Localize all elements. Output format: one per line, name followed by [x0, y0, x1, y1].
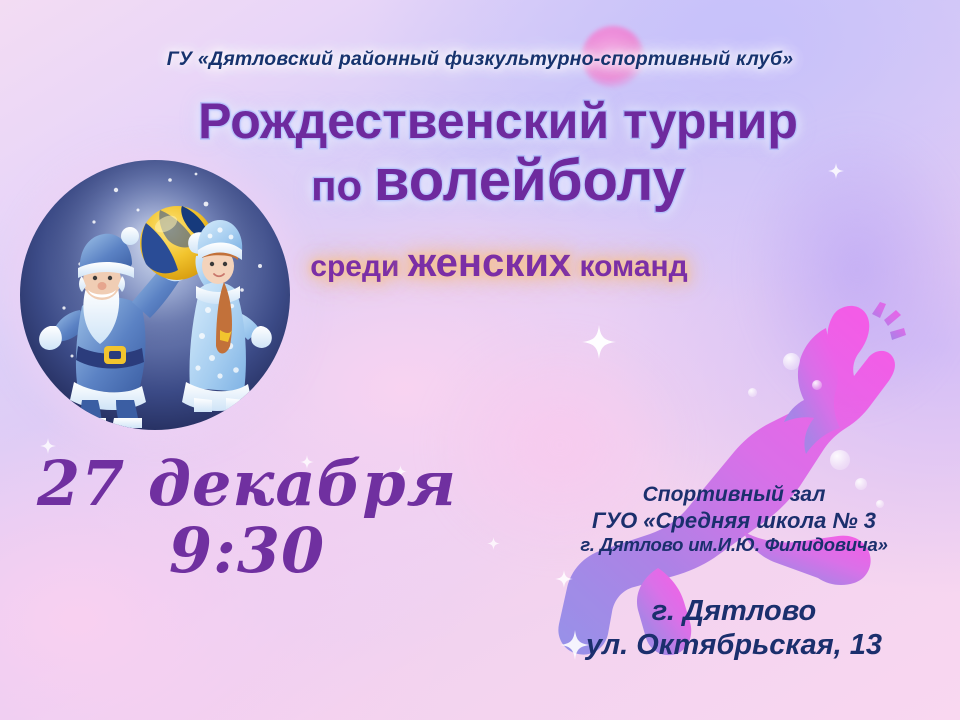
poster-canvas: ГУ «Дятловский районный физкультурно-спо… — [0, 0, 960, 720]
bubble-decoration — [748, 388, 757, 397]
venue-block: Спортивный зал ГУО «Средняя школа № 3 г.… — [508, 482, 960, 557]
event-date: 27 декабря — [12, 452, 482, 515]
venue-line-2: ГУО «Средняя школа № 3 — [508, 508, 960, 535]
address-street: ул. Октябрьская, 13 — [508, 628, 960, 662]
sparkle-star-icon — [487, 537, 500, 550]
bubble-decoration — [830, 450, 850, 470]
subtitle: среди женских команд — [0, 243, 960, 283]
title-line2-prefix: по — [311, 162, 374, 209]
subtitle-emphasis: женских — [408, 241, 571, 285]
sparkle-star-icon — [582, 325, 616, 359]
title-line2-main: волейболу — [374, 148, 685, 213]
subtitle-suffix: команд — [571, 250, 688, 283]
sparkle-star-icon — [828, 163, 844, 179]
venue-line-1: Спортивный зал — [508, 482, 960, 508]
bubble-decoration — [783, 353, 800, 370]
event-time: 9:30 — [12, 519, 482, 582]
ded-moroz-snegurochka-volleyball-icon — [20, 160, 290, 430]
organization-title: ГУ «Дятловский районный физкультурно-спо… — [0, 48, 960, 71]
date-time-block: 27 декабря 9:30 — [12, 452, 482, 582]
sparkle-star-icon — [555, 570, 573, 588]
bubble-decoration — [812, 380, 822, 390]
address-city: г. Дятлово — [508, 594, 960, 628]
venue-line-3: г. Дятлово им.И.Ю. Филидовича» — [508, 534, 960, 557]
address-block: г. Дятлово ул. Октябрьская, 13 — [508, 594, 960, 662]
subtitle-prefix: среди — [310, 250, 408, 283]
title-line-1: Рождественский турнир — [0, 96, 960, 146]
